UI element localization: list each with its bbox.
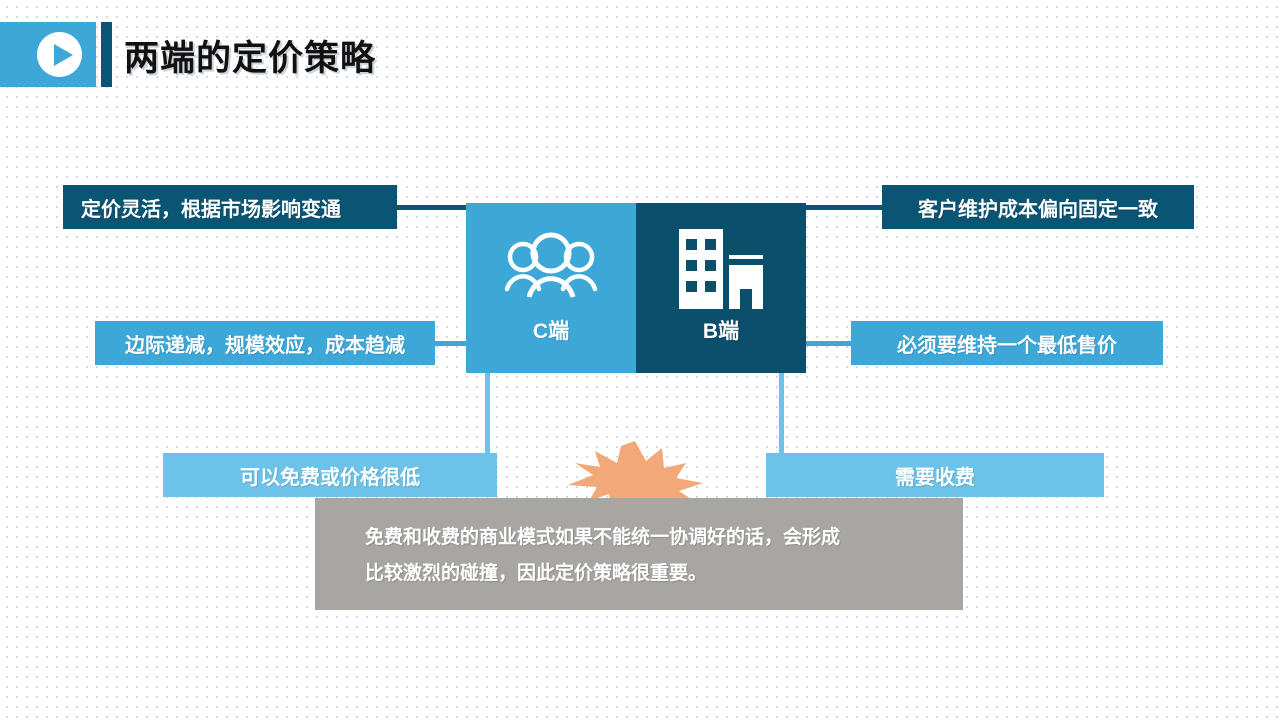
- label-bottom-left[interactable]: 可以免费或价格很低: [163, 453, 497, 497]
- header-accent-bar: [101, 22, 112, 87]
- note-box: 免费和收费的商业模式如果不能统一协调好的话，会形成 比较激烈的碰撞，因此定价策略…: [315, 498, 963, 610]
- note-line-1: 免费和收费的商业模式如果不能统一协调好的话，会形成: [365, 520, 923, 556]
- panel-consumer-label: C端: [533, 315, 569, 345]
- header-badge: [0, 22, 96, 87]
- label-mid-left[interactable]: 边际递减，规模效应，成本趋减: [95, 321, 435, 365]
- panel-business[interactable]: B端: [636, 203, 806, 373]
- page-title: 两端的定价策略: [124, 30, 376, 81]
- office-building-icon: [677, 227, 765, 313]
- panel-business-label: B端: [703, 315, 739, 345]
- label-top-left[interactable]: 定价灵活，根据市场影响变通: [63, 185, 397, 229]
- play-triangle-icon: [54, 44, 73, 66]
- label-top-right[interactable]: 客户维护成本偏向固定一致: [882, 185, 1194, 229]
- label-bottom-right[interactable]: 需要收费: [766, 453, 1104, 497]
- panel-consumer[interactable]: C端: [466, 203, 636, 373]
- label-mid-right[interactable]: 必须要维持一个最低售价: [851, 321, 1163, 365]
- people-group-icon: [499, 227, 603, 313]
- play-icon: [37, 32, 82, 77]
- connector-bottom-left: [485, 373, 490, 463]
- connector-bottom-right: [779, 373, 784, 463]
- note-line-2: 比较激烈的碰撞，因此定价策略很重要。: [365, 556, 923, 592]
- slide-canvas: 两端的定价策略: [0, 0, 1280, 720]
- center-panels: C端 B端: [466, 203, 806, 373]
